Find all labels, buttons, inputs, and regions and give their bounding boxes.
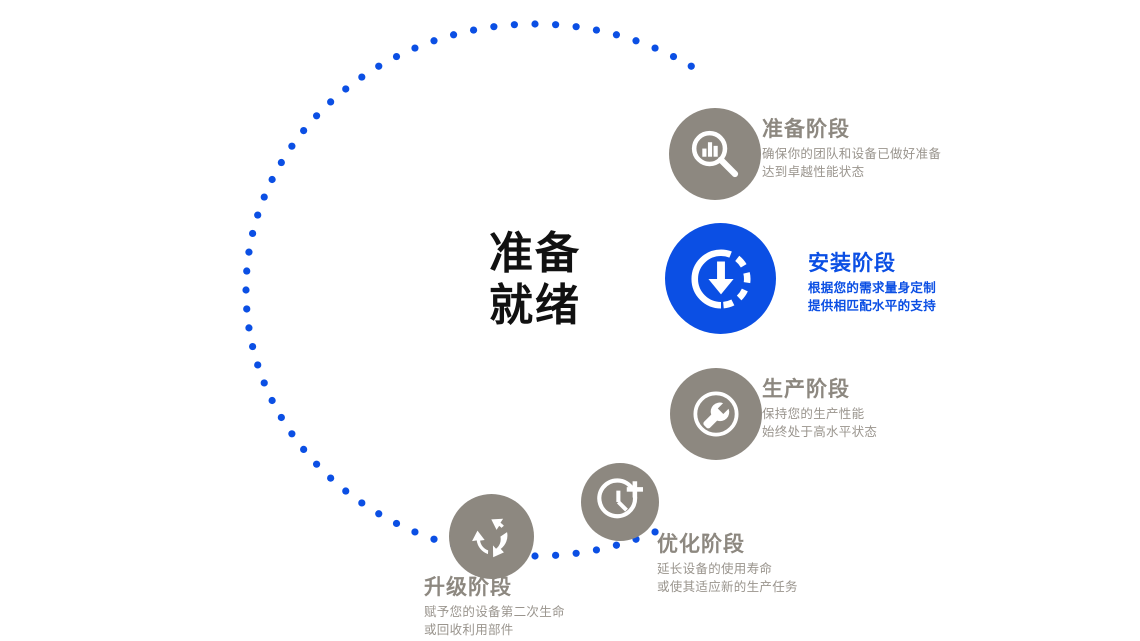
path-dot [278, 159, 285, 166]
optimization-text-block: 优化阶段 延长设备的使用寿命 或使其适应新的生产任务 [657, 533, 798, 596]
magnifier-chart-icon [686, 125, 744, 183]
path-dot [327, 474, 334, 481]
path-dot [450, 31, 457, 38]
production-desc-line-2: 始终处于高水平状态 [762, 423, 877, 441]
path-dot [242, 286, 249, 293]
path-dot [300, 127, 307, 134]
preparation-title: 准备阶段 [762, 118, 941, 142]
optimization-title: 优化阶段 [657, 533, 798, 557]
path-dot [313, 461, 320, 468]
production-icon-disc[interactable] [670, 368, 762, 460]
path-dot [632, 37, 639, 44]
path-dot [245, 249, 252, 256]
path-dot [670, 53, 677, 60]
path-dot [288, 430, 295, 437]
path-dot [342, 487, 349, 494]
path-dot [613, 31, 620, 38]
infographic-canvas: 准备 就绪 准备阶段 确保你的团队和设备已做好准备 达到卓越性能状态 [0, 0, 1140, 641]
installation-icon-disc[interactable] [665, 223, 776, 334]
upgrade-description: 赋予您的设备第二次生命 或回收利用部件 [424, 603, 565, 639]
path-dot [430, 37, 437, 44]
upgrade-desc-line-2: 或回收利用部件 [424, 621, 565, 639]
installation-desc-line-1: 根据您的需求量身定制 [808, 279, 936, 297]
path-dot [411, 44, 418, 51]
path-dot [573, 23, 580, 30]
preparation-description: 确保你的团队和设备已做好准备 达到卓越性能状态 [762, 145, 941, 181]
path-dot [552, 552, 559, 559]
path-dot [313, 112, 320, 119]
download-ring-icon [686, 244, 756, 314]
path-dot [573, 550, 580, 557]
path-dot [651, 44, 658, 51]
preparation-text-block: 准备阶段 确保你的团队和设备已做好准备 达到卓越性能状态 [762, 118, 941, 181]
center-headline-line-2: 就绪 [430, 280, 640, 332]
path-dot [245, 324, 252, 331]
path-dot [593, 26, 600, 33]
preparation-icon-disc[interactable] [669, 108, 761, 200]
path-dot [249, 230, 256, 237]
center-headline-line-1: 准备 [430, 228, 640, 280]
path-dot [613, 542, 620, 549]
recycle-icon [464, 509, 520, 565]
installation-description: 根据您的需求量身定制 提供相匹配水平的支持 [808, 279, 936, 315]
path-dot [411, 528, 418, 535]
optimization-description: 延长设备的使用寿命 或使其适应新的生产任务 [657, 560, 798, 596]
path-dot [278, 414, 285, 421]
path-dot [243, 267, 250, 274]
upgrade-icon-disc[interactable] [449, 494, 534, 579]
path-dot [511, 21, 518, 28]
path-dot [552, 21, 559, 28]
path-dot [430, 536, 437, 543]
preparation-desc-line-1: 确保你的团队和设备已做好准备 [762, 145, 941, 163]
path-dot [531, 20, 538, 27]
path-dot [593, 546, 600, 553]
upgrade-title: 升级阶段 [424, 576, 565, 600]
path-dot [531, 552, 538, 559]
path-dot [393, 520, 400, 527]
path-dot [393, 53, 400, 60]
wrench-ring-icon [686, 384, 746, 444]
center-headline: 准备 就绪 [430, 228, 640, 332]
path-dot [358, 499, 365, 506]
upgrade-text-block: 升级阶段 赋予您的设备第二次生命 或回收利用部件 [424, 576, 565, 639]
path-dot [358, 73, 365, 80]
production-title: 生产阶段 [762, 378, 877, 402]
path-dot [342, 85, 349, 92]
path-dot [688, 63, 695, 70]
production-description: 保持您的生产性能 始终处于高水平状态 [762, 405, 877, 441]
upgrade-desc-line-1: 赋予您的设备第二次生命 [424, 603, 565, 621]
optimization-desc-line-1: 延长设备的使用寿命 [657, 560, 798, 578]
path-dot [288, 143, 295, 150]
clock-plus-icon [594, 476, 646, 528]
production-desc-line-1: 保持您的生产性能 [762, 405, 877, 423]
optimization-desc-line-2: 或使其适应新的生产任务 [657, 578, 798, 596]
optimization-icon-disc[interactable] [581, 463, 659, 541]
path-dot [327, 98, 334, 105]
installation-desc-line-2: 提供相匹配水平的支持 [808, 297, 936, 315]
installation-text-block: 安装阶段 根据您的需求量身定制 提供相匹配水平的支持 [808, 252, 936, 315]
path-dot [243, 305, 250, 312]
path-dot [249, 343, 256, 350]
path-dot [254, 361, 261, 368]
path-dot [254, 211, 261, 218]
path-dot [470, 26, 477, 33]
path-dot [269, 397, 276, 404]
path-dot [261, 193, 268, 200]
path-dot [269, 176, 276, 183]
installation-title: 安装阶段 [808, 252, 936, 276]
path-dot [490, 23, 497, 30]
path-dot [300, 446, 307, 453]
production-text-block: 生产阶段 保持您的生产性能 始终处于高水平状态 [762, 378, 877, 441]
path-dot [375, 510, 382, 517]
path-dot [375, 63, 382, 70]
path-dot [261, 379, 268, 386]
preparation-desc-line-2: 达到卓越性能状态 [762, 163, 941, 181]
